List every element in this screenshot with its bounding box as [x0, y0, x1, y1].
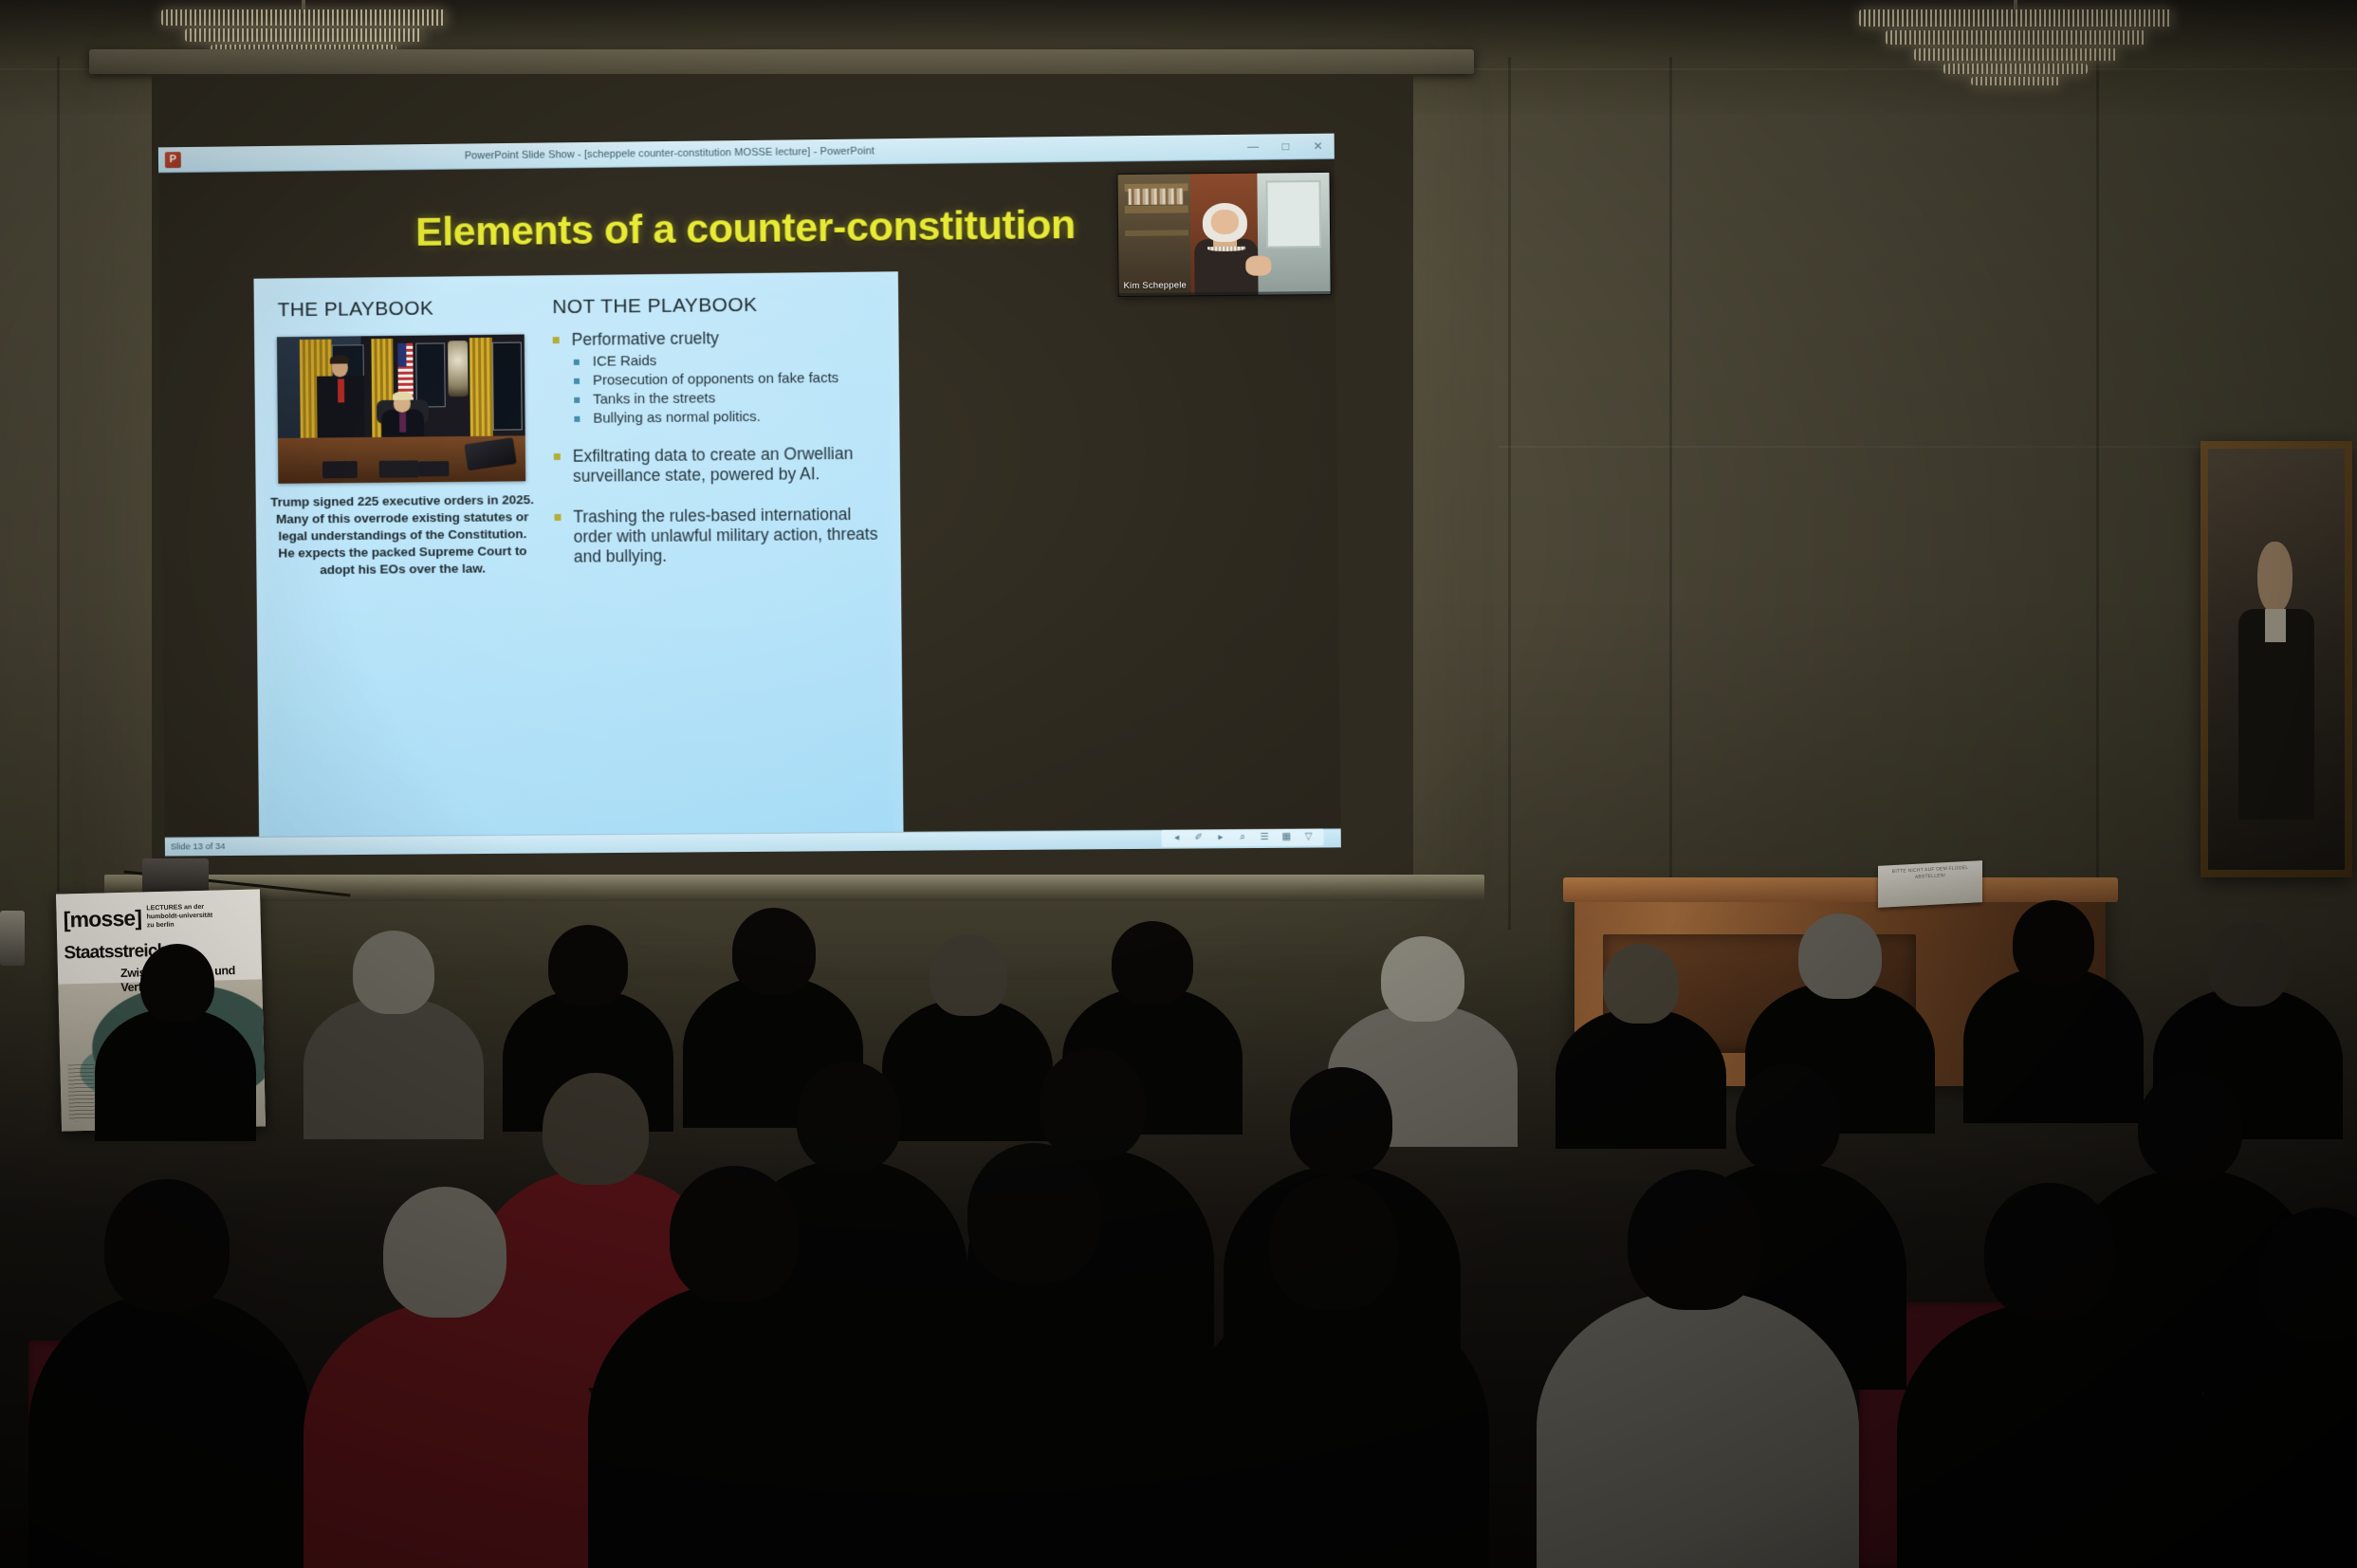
presenter-view-icon[interactable]: ▦ — [1280, 831, 1293, 844]
placard-text: BITTE NICHT AUF DEM FLÜGEL ABSTELLEN! — [1878, 860, 1982, 883]
slide-content-panel: THE PLAYBOOK NOT THE PLAYBOOK — [253, 271, 904, 856]
audience-member — [1556, 1008, 1726, 1149]
bullet-list: Performative cruelty ICE Raids Prosecuti… — [547, 326, 883, 570]
audience-member — [1897, 1302, 2210, 1568]
video-overlay-tile[interactable]: Kim Scheppele — [1116, 172, 1331, 297]
audience-head — [548, 925, 628, 1006]
audience-member — [1963, 967, 2144, 1123]
audience-head — [1269, 1175, 1398, 1310]
audience-member — [304, 997, 484, 1139]
audience-member — [588, 1283, 892, 1568]
audience-member — [1537, 1291, 1859, 1568]
framed-portrait — [2200, 441, 2352, 877]
chandelier-right — [1859, 0, 2172, 114]
pen-tools-icon[interactable]: ✐ — [1192, 831, 1206, 844]
audience-head — [1290, 1067, 1392, 1175]
audience-head — [353, 931, 434, 1014]
audience-head — [967, 1143, 1100, 1283]
audience-head — [2208, 921, 2290, 1006]
audience-head — [670, 1166, 799, 1302]
lecture-hall-room: P PowerPoint Slide Show - [scheppele cou… — [0, 0, 2357, 1568]
photo-caption: Trump signed 225 executive orders in 202… — [269, 491, 537, 579]
slide-counter: Slide 13 of 34 — [171, 841, 226, 852]
bullet-level2: ICE Raids — [547, 351, 881, 372]
audience-head — [732, 908, 816, 995]
next-slide-icon[interactable]: ▸ — [1214, 831, 1227, 844]
column-heading-not-playbook: NOT THE PLAYBOOK — [552, 294, 757, 319]
bullet-level2: Prosecution of opponents on fake facts — [547, 370, 881, 391]
bullet-level1: Trashing the rules-based international o… — [548, 505, 882, 567]
audience-head — [1040, 1048, 1146, 1160]
audience-member — [882, 999, 1053, 1141]
wall-seam — [1508, 57, 1511, 930]
slideshow-toolbar[interactable]: ◂ ✐ ▸ ⌕ ☰ ▦ ▽ — [1161, 828, 1323, 846]
screen-housing — [89, 49, 1474, 74]
bullet-level1: Exfiltrating data to create an Orwellian… — [548, 444, 882, 487]
zoom-slide-icon[interactable]: ⌕ — [1236, 831, 1249, 844]
column-heading-playbook: THE PLAYBOOK — [278, 298, 434, 323]
bullet-level2: Bullying as normal politics. — [547, 408, 881, 429]
audience-head — [543, 1073, 649, 1185]
audience-head — [1381, 936, 1464, 1022]
powerpoint-icon: P — [165, 152, 181, 168]
bullet-level2: Tanks in the streets — [547, 389, 881, 410]
audience-head — [1984, 1183, 2115, 1319]
maximize-button[interactable]: □ — [1269, 134, 1301, 158]
audience-head — [104, 1179, 230, 1312]
minimize-button[interactable]: — — [1237, 134, 1269, 158]
audience-head — [1603, 944, 1679, 1024]
audience-member — [304, 1302, 598, 1568]
audience-head — [1112, 921, 1193, 1005]
wall-seam — [1669, 57, 1672, 939]
audience-head — [1798, 913, 1882, 999]
audience-member — [28, 1293, 313, 1568]
speaker-name-label: Kim Scheppele — [1124, 280, 1188, 291]
audience-head — [930, 934, 1007, 1016]
wall-seam — [2096, 57, 2099, 911]
more-options-icon[interactable]: ▽ — [1301, 831, 1315, 844]
audience-head — [2013, 900, 2094, 986]
audience-member — [1186, 1293, 1489, 1568]
audience-head — [797, 1061, 901, 1171]
audience — [0, 885, 2357, 1568]
close-button[interactable]: ✕ — [1301, 134, 1334, 158]
audience-head — [2138, 1071, 2242, 1181]
oval-office-photo — [277, 334, 525, 483]
audience-member — [95, 1008, 256, 1141]
audience-head — [1736, 1063, 1840, 1173]
audience-head — [1628, 1170, 1762, 1310]
audience-head — [140, 944, 214, 1022]
bullet-level1: Performative cruelty — [547, 326, 881, 350]
audience-head — [383, 1187, 506, 1318]
all-slides-icon[interactable]: ☰ — [1258, 831, 1271, 844]
previous-slide-icon[interactable]: ◂ — [1170, 832, 1184, 845]
audience-member — [882, 1264, 1195, 1568]
